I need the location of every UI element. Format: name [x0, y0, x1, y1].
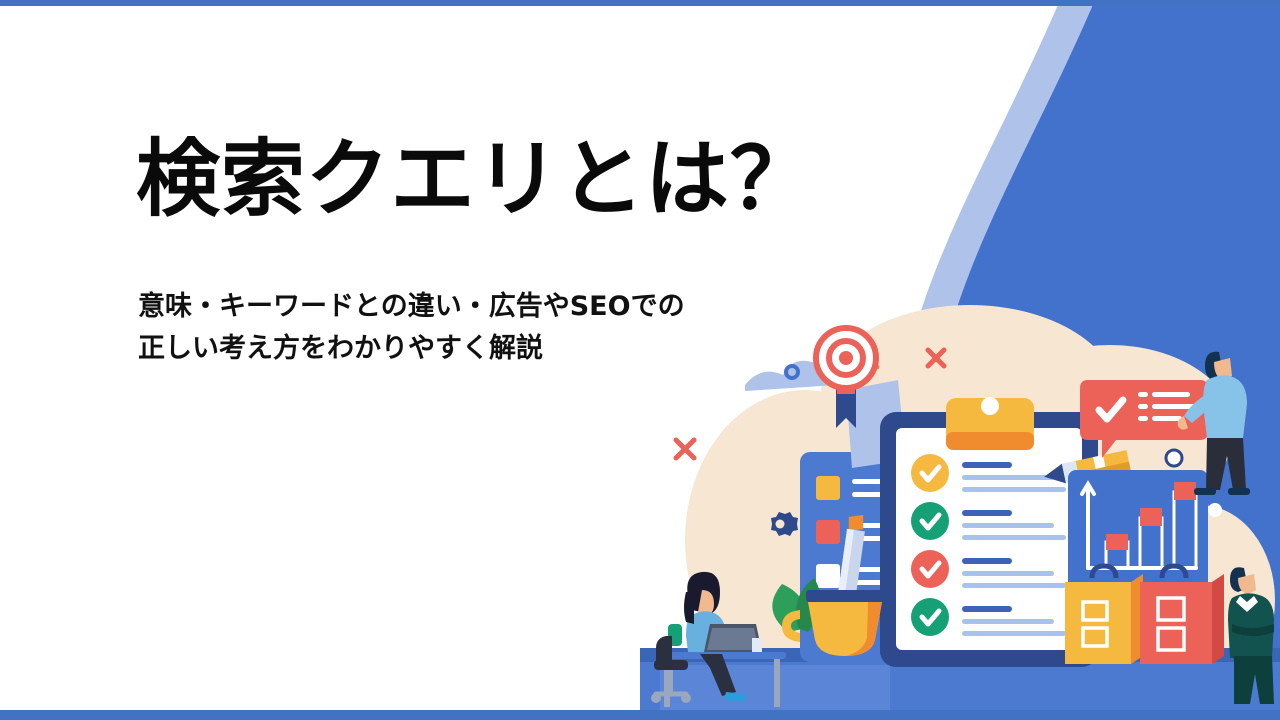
headline-block: 検索クエリとは？ 意味・キーワードとの違い・広告やSEOでの 正しい考え方をわか… — [136, 132, 815, 370]
list-swatch-yellow — [816, 476, 840, 500]
slide-canvas: 検索クエリとは？ 意味・キーワードとの違い・広告やSEOでの 正しい考え方をわか… — [0, 0, 1280, 720]
circle-dot-white-2 — [1166, 450, 1182, 466]
clipboard-clip-hole — [981, 397, 999, 415]
page-title: 検索クエリとは？ — [136, 132, 815, 226]
subtitle-line-1: 意味・キーワードとの違い・広告やSEOでの — [138, 286, 815, 328]
list-swatch-red — [816, 520, 840, 544]
circle-dot-white — [1208, 503, 1222, 517]
cup-rim — [806, 590, 884, 602]
top-accent-bar — [0, 0, 1280, 6]
gear-hole — [776, 520, 785, 529]
cross-mark-red — [676, 440, 694, 458]
bottom-accent-bar — [0, 710, 1280, 720]
list-swatch-white — [816, 564, 840, 588]
page-subtitle: 意味・キーワードとの違い・広告やSEOでの 正しい考え方をわかりやすく解説 — [138, 286, 815, 370]
subtitle-line-2: 正しい考え方をわかりやすく解説 — [138, 328, 815, 370]
